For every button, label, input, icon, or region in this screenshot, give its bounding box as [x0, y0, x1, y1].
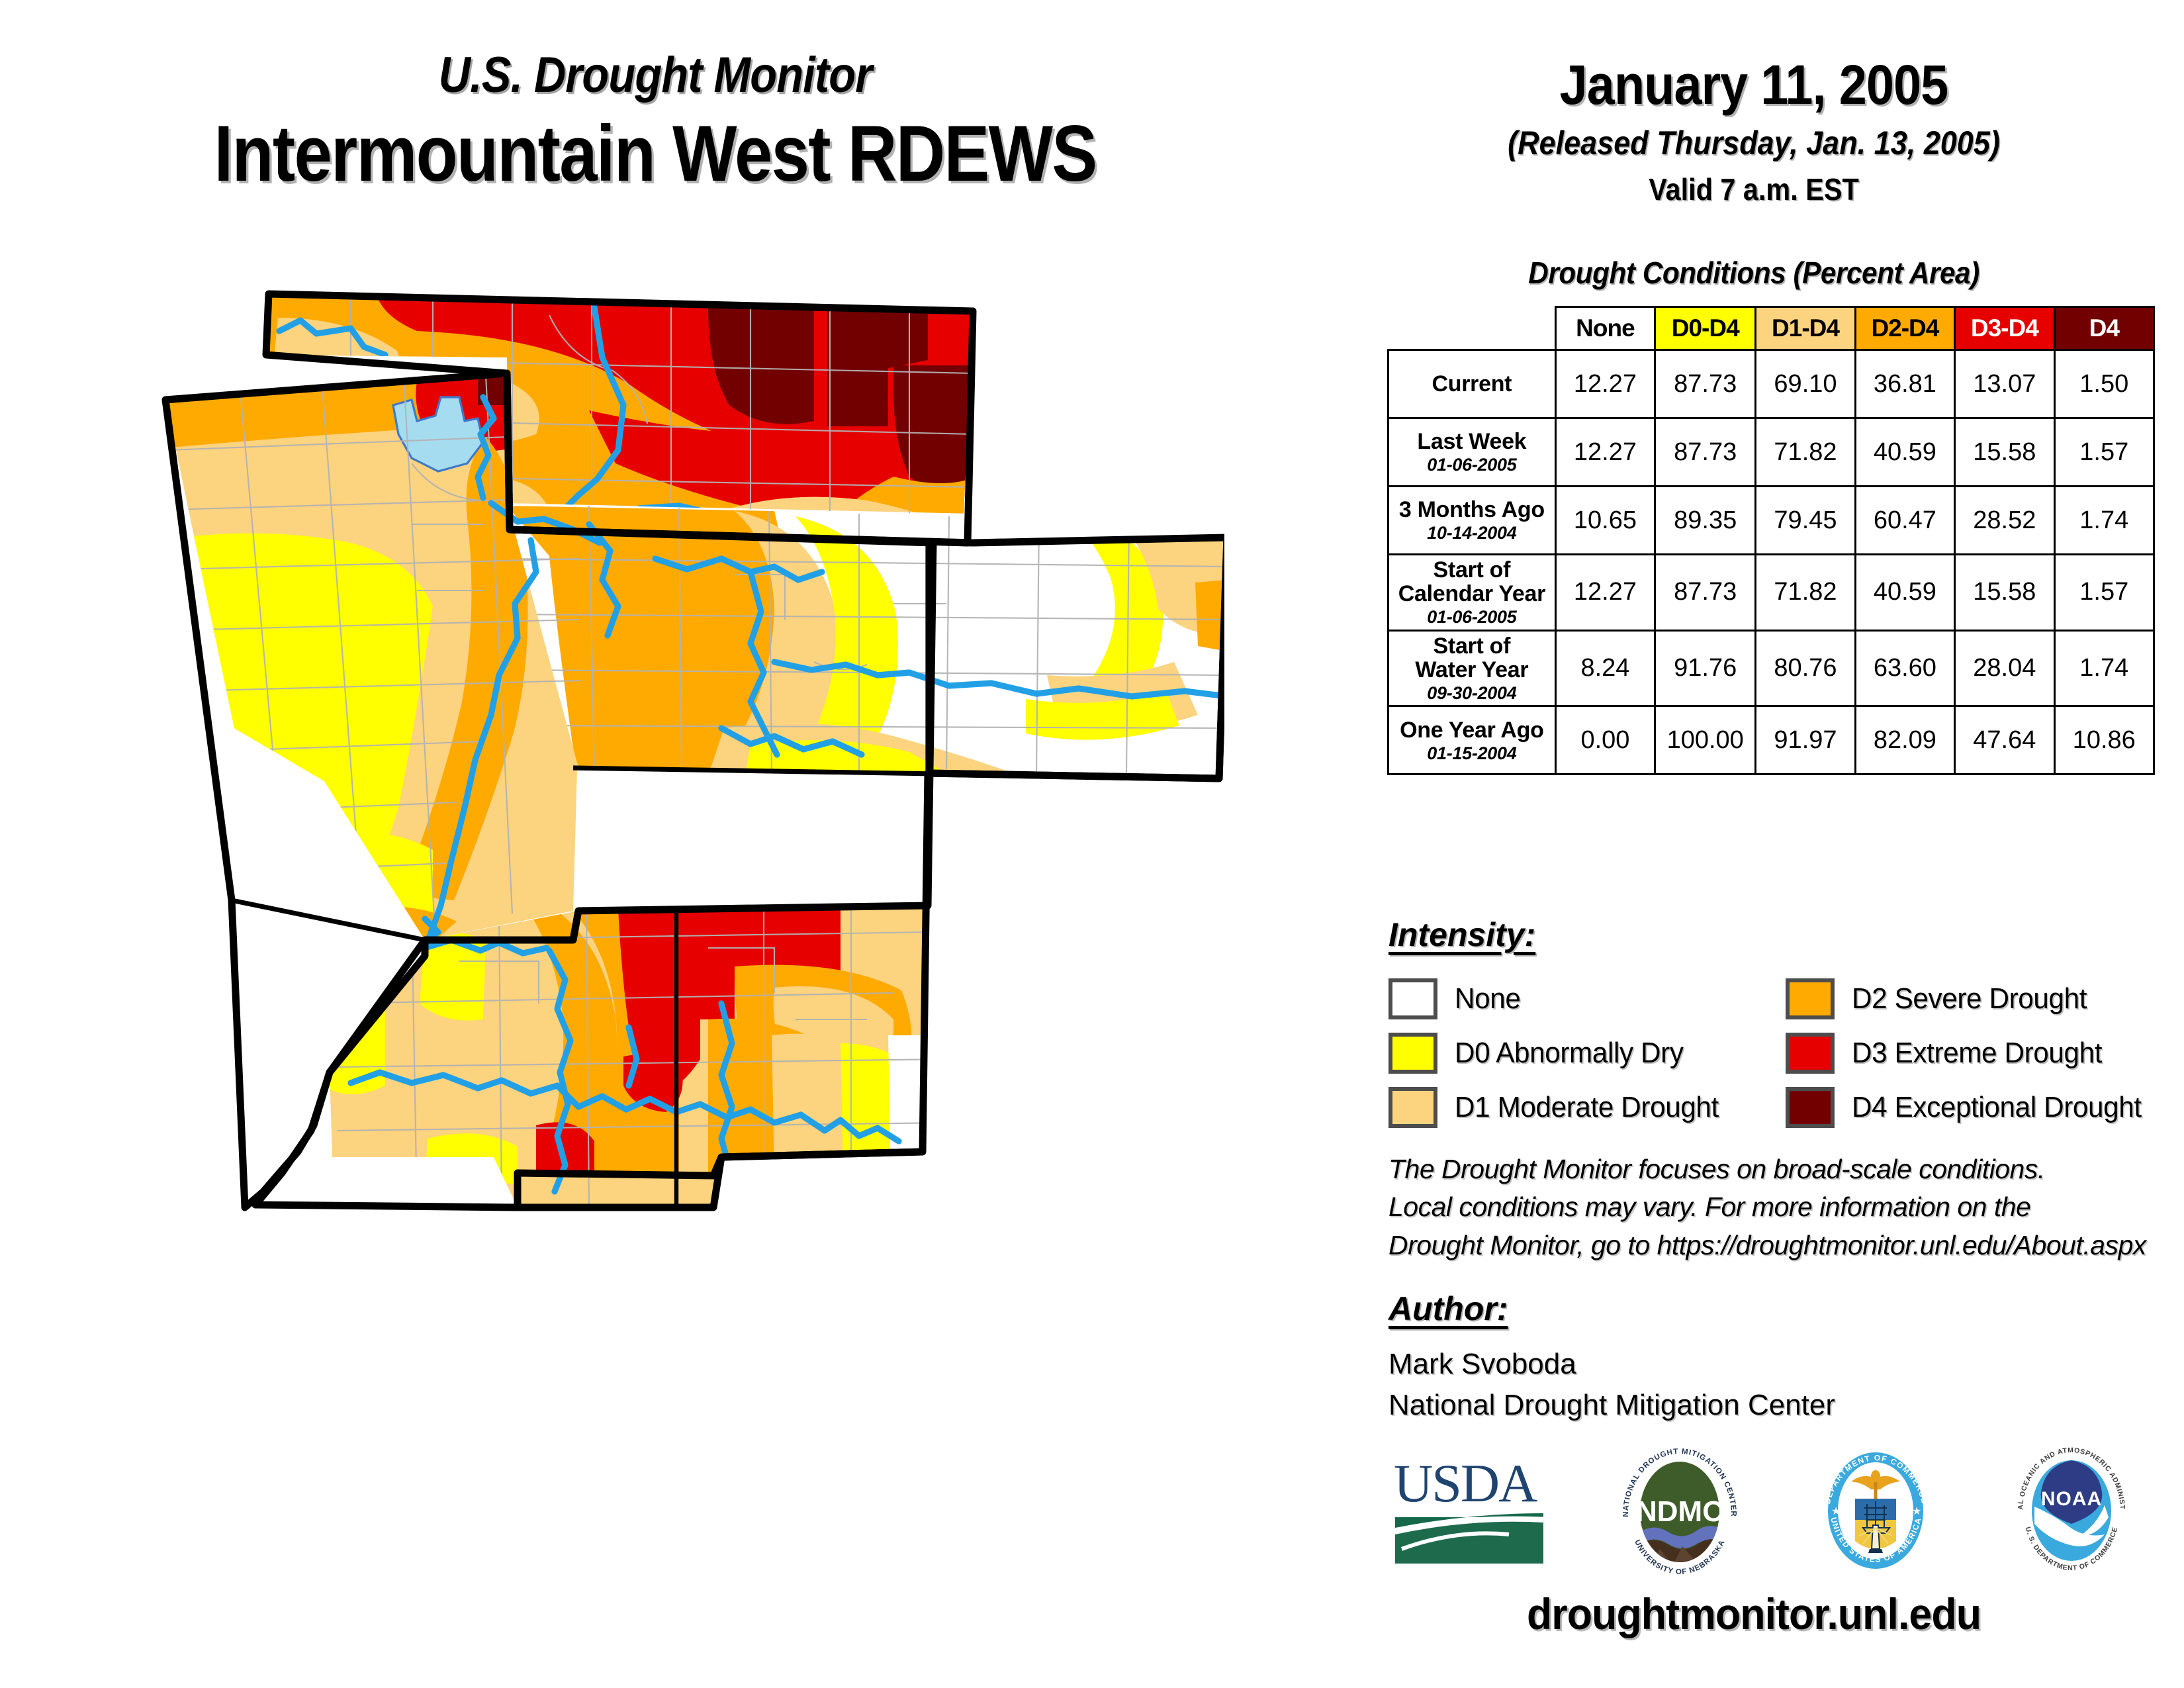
col-header-d2-d4: D2-D4	[1855, 307, 1954, 350]
svg-text:★: ★	[1831, 1506, 1841, 1517]
row-label-3: Start ofCalendar Year01-06-2005	[1388, 555, 1556, 631]
cell-5-3: 82.09	[1855, 706, 1954, 774]
table-row: Current12.2787.7369.1036.8113.071.50	[1388, 350, 2154, 418]
valid-time: Valid 7 a.m. EST	[1367, 171, 2141, 207]
col-header-d1-d4: D1-D4	[1756, 307, 1855, 350]
cell-2-0: 10.65	[1555, 487, 1655, 555]
cell-5-4: 47.64	[1955, 706, 2054, 774]
intensity-legend-title: Intensity:	[1388, 915, 1535, 954]
legend-label-d0: D0 Abnormally Dry	[1455, 1037, 1684, 1070]
table-caption: Drought Conditions (Percent Area)	[1358, 255, 2150, 291]
legend-label-d3: D3 Extreme Drought	[1852, 1037, 2102, 1070]
intensity-legend: NoneD2 Severe DroughtD0 Abnormally DryD3…	[1388, 972, 2169, 1135]
cell-0-4: 13.07	[1955, 350, 2054, 418]
row-label-line: Start of	[1393, 558, 1551, 582]
cell-3-5: 1.57	[2054, 555, 2154, 631]
legend-swatch-none	[1388, 978, 1437, 1019]
release-date: (Released Thursday, Jan. 13, 2005)	[1367, 124, 2141, 162]
col-header-d0-d4: D0-D4	[1655, 307, 1756, 350]
author-name: Mark Svoboda	[1388, 1344, 1835, 1385]
row-label-line: Start of	[1393, 634, 1551, 658]
cell-4-1: 91.76	[1655, 630, 1756, 706]
cell-2-1: 89.35	[1655, 487, 1756, 555]
title-block: U.S. Drought Monitor Intermountain West …	[0, 46, 1310, 199]
ndmc-logo: NDMC NATIONAL DROUGHT MITIGATION CENTER …	[1614, 1443, 1746, 1582]
table-row: Last Week01-06-200512.2787.7371.8240.591…	[1388, 418, 2154, 487]
program-title: U.S. Drought Monitor	[79, 46, 1232, 104]
legend-item-d3: D3 Extreme Drought	[1786, 1033, 2169, 1074]
cell-5-1: 100.00	[1655, 706, 1756, 774]
svg-text:NDMC: NDMC	[1636, 1495, 1723, 1528]
cell-0-0: 12.27	[1555, 350, 1655, 418]
author-block: Mark Svoboda National Drought Mitigation…	[1388, 1344, 1835, 1427]
cell-3-1: 87.73	[1655, 555, 1756, 631]
author-affiliation: National Drought Mitigation Center	[1388, 1385, 1835, 1426]
legend-item-none: None	[1388, 978, 1786, 1019]
table-row: 3 Months Ago10-14-200410.6589.3579.4560.…	[1388, 487, 2154, 555]
cell-5-0: 0.00	[1555, 706, 1655, 774]
disclaimer-line-2: Local conditions may vary. For more info…	[1388, 1188, 2183, 1226]
cell-1-1: 87.73	[1655, 418, 1756, 487]
drought-monitor-page: U.S. Drought Monitor Intermountain West …	[0, 0, 2184, 1688]
date-block: January 11, 2005 (Released Thursday, Jan…	[1324, 53, 2184, 207]
site-url: droughtmonitor.unl.edu	[1345, 1589, 2163, 1639]
row-label-line: Water Year	[1393, 658, 1551, 682]
cell-3-3: 40.59	[1855, 555, 1954, 631]
row-label-2: 3 Months Ago10-14-2004	[1388, 487, 1556, 555]
disclaimer-line-1: The Drought Monitor focuses on broad-sca…	[1388, 1150, 2183, 1188]
cell-0-5: 1.50	[2054, 350, 2154, 418]
legend-label-d4: D4 Exceptional Drought	[1852, 1091, 2142, 1124]
page-title: Intermountain West RDEWS	[92, 108, 1219, 199]
cell-3-2: 71.82	[1756, 555, 1855, 631]
legend-item-d0: D0 Abnormally Dry	[1388, 1033, 1786, 1074]
row-label-5: One Year Ago01-15-2004	[1388, 706, 1556, 774]
row-label-1: Last Week01-06-2005	[1388, 418, 1556, 487]
legend-item-d4: D4 Exceptional Drought	[1786, 1087, 2169, 1128]
legend-label-none: None	[1455, 982, 1520, 1015]
col-header-none: None	[1555, 307, 1655, 350]
svg-text:★: ★	[1912, 1506, 1921, 1517]
cell-0-1: 87.73	[1655, 350, 1756, 418]
cell-3-0: 12.27	[1555, 555, 1655, 631]
legend-swatch-d3	[1786, 1033, 1835, 1074]
legend-swatch-d1	[1388, 1087, 1437, 1128]
legend-swatch-d2	[1786, 978, 1835, 1019]
cell-1-3: 40.59	[1855, 418, 1954, 487]
author-heading: Author:	[1388, 1289, 1508, 1328]
legend-label-d1: D1 Moderate Drought	[1455, 1091, 1719, 1124]
cell-1-0: 12.27	[1555, 418, 1655, 487]
svg-text:NOAA: NOAA	[2041, 1488, 2102, 1510]
disclaimer-text: The Drought Monitor focuses on broad-sca…	[1388, 1150, 2183, 1264]
cell-4-0: 8.24	[1555, 630, 1655, 706]
cell-0-2: 69.10	[1756, 350, 1855, 418]
cell-4-3: 63.60	[1855, 630, 1954, 706]
cell-0-3: 36.81	[1855, 350, 1954, 418]
cell-2-2: 79.45	[1756, 487, 1855, 555]
cell-4-5: 1.74	[2054, 630, 2154, 706]
row-label-0: Current	[1388, 350, 1556, 418]
doc-logo: DEPARTMENT OF COMMERCE UNITED STATES OF …	[1811, 1443, 1940, 1582]
table-row: Start ofWater Year09-30-20048.2491.7680.…	[1388, 630, 2154, 706]
row-label-line: Last Week	[1393, 430, 1551, 453]
row-label-line: 3 Months Ago	[1393, 498, 1551, 522]
legend-label-d2: D2 Severe Drought	[1852, 982, 2087, 1015]
legend-swatch-d0	[1388, 1033, 1437, 1074]
table-header-row: None D0-D4 D1-D4 D2-D4 D3-D4 D4	[1388, 307, 2154, 350]
table-corner-cell	[1388, 307, 1556, 350]
row-label-line: Calendar Year	[1393, 582, 1551, 606]
row-label-date: 01-15-2004	[1393, 744, 1551, 763]
disclaimer-line-3: Drought Monitor, go to https://droughtmo…	[1388, 1227, 2183, 1264]
valid-date: January 11, 2005	[1367, 53, 2141, 117]
noaa-logo: NOAA NATIONAL OCEANIC AND ATMOSPHERIC AD…	[2005, 1443, 2138, 1582]
row-label-date: 09-30-2004	[1393, 684, 1551, 703]
cell-2-5: 1.74	[2054, 487, 2154, 555]
row-label-date: 10-14-2004	[1393, 524, 1551, 543]
cell-5-2: 91.97	[1756, 706, 1855, 774]
legend-swatch-d4	[1786, 1087, 1835, 1128]
table-row: Start ofCalendar Year01-06-200512.2787.7…	[1388, 555, 2154, 631]
col-header-d3-d4: D3-D4	[1955, 307, 2054, 350]
row-label-date: 01-06-2005	[1393, 455, 1551, 475]
logo-row: USDA	[1390, 1440, 2138, 1585]
svg-text:USDA: USDA	[1394, 1453, 1537, 1513]
drought-conditions-table: None D0-D4 D1-D4 D2-D4 D3-D4 D4 Current1…	[1387, 306, 2155, 775]
legend-item-d1: D1 Moderate Drought	[1388, 1087, 1786, 1128]
cell-5-5: 10.86	[2054, 706, 2154, 774]
cell-2-4: 28.52	[1955, 487, 2054, 555]
cell-4-2: 80.76	[1756, 630, 1855, 706]
row-label-date: 01-06-2005	[1393, 608, 1551, 627]
table-row: One Year Ago01-15-20040.00100.0091.9782.…	[1388, 706, 2154, 774]
cell-2-3: 60.47	[1855, 487, 1954, 555]
cell-4-4: 28.04	[1955, 630, 2054, 706]
cell-1-2: 71.82	[1756, 418, 1855, 487]
cell-1-4: 15.58	[1955, 418, 2054, 487]
usda-logo: USDA	[1390, 1450, 1549, 1575]
legend-item-d2: D2 Severe Drought	[1786, 978, 2169, 1019]
col-header-d4: D4	[2054, 307, 2154, 350]
cell-1-5: 1.57	[2054, 418, 2154, 487]
row-label-line: Current	[1393, 372, 1551, 396]
cell-3-4: 15.58	[1955, 555, 2054, 631]
row-label-line: One Year Ago	[1393, 718, 1551, 742]
intermountain-west-drought-map	[152, 278, 1224, 1595]
row-label-4: Start ofWater Year09-30-2004	[1388, 630, 1556, 706]
